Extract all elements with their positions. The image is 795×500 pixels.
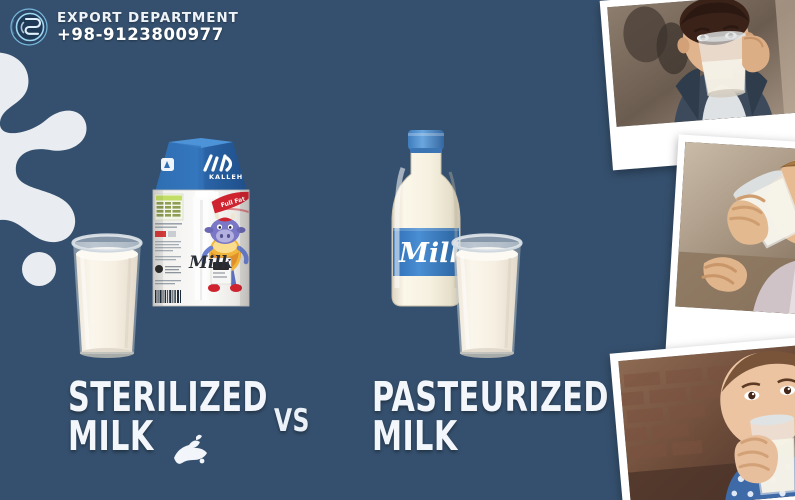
title-right-line2: MILK (372, 417, 609, 456)
title-left-line2: MILK (68, 417, 268, 456)
svg-text:KALLEH: KALLEH (209, 173, 243, 181)
vs-label: VS (274, 403, 310, 439)
poster-canvas: EXPORT DEPARTMENT +98-9123800977 (0, 0, 795, 500)
glass-of-milk-left (66, 230, 148, 358)
photo-girl-drinking-milk (610, 335, 795, 500)
photo-3-image (618, 344, 795, 500)
milk-splash-droplet (22, 252, 56, 286)
kalleh-circular-logo-icon (10, 8, 48, 46)
photo-1-image (607, 0, 795, 127)
photo-2-image (675, 142, 795, 317)
phone-number: +98-9123800977 (57, 26, 239, 44)
svg-text:Milk: Milk (188, 253, 233, 273)
glass-of-milk-right (446, 230, 528, 358)
header: EXPORT DEPARTMENT +98-9123800977 (10, 8, 239, 46)
export-department-label: EXPORT DEPARTMENT (57, 11, 239, 26)
milk-splash-icon (170, 432, 212, 468)
milk-carton: KALLEH (145, 136, 257, 308)
photo-boy-drinking-milk-profile (666, 134, 795, 360)
